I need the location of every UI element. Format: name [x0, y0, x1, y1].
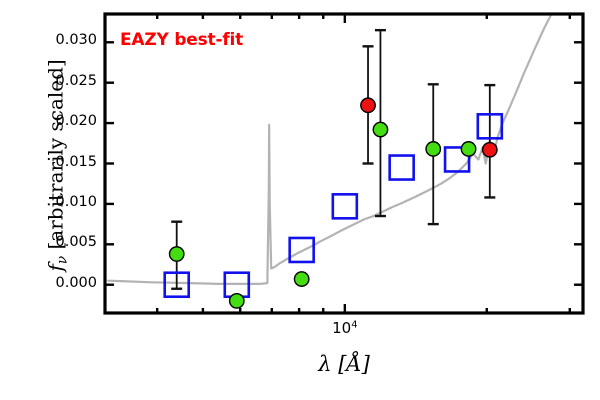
observed-photometry-point [294, 272, 308, 286]
x-axis-label-unit: [Å] [338, 352, 370, 376]
observed-photometry-point [170, 247, 184, 261]
observed-photometry-point [461, 142, 475, 156]
observed-photometry-point [361, 98, 375, 112]
figure-container: 0.0000.0050.0100.0150.0200.0250.030 104 … [0, 0, 600, 400]
observed-photometry-point [483, 143, 497, 157]
observed-photometry-point [373, 122, 387, 136]
observed-photometry-point [230, 294, 244, 308]
x-axis-label: λ [Å] [104, 352, 584, 376]
y-axis-label-rest: [arbitrarily scaled] [44, 59, 68, 249]
eazy-best-fit-annotation: EAZY best-fit [120, 30, 243, 50]
y-axis-label-f: f [44, 264, 68, 271]
x-tick-label: 104 [310, 319, 380, 337]
y-axis-label-nu: ν [54, 256, 70, 264]
observed-photometry-point [426, 142, 440, 156]
x-axis-label-lambda: λ [318, 352, 331, 376]
y-axis-label: fν [arbitrarily scaled] [44, 20, 71, 310]
